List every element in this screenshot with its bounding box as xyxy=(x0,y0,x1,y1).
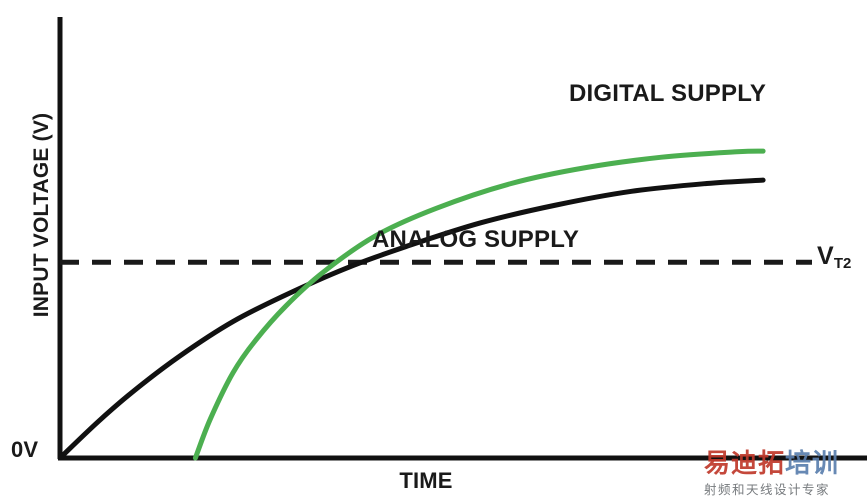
watermark-main-text: 易迪拓培训 xyxy=(704,450,862,476)
digital-supply-curve xyxy=(195,151,763,458)
analog-supply-series-label: ANALOG SUPPLY xyxy=(372,226,579,254)
zero-volt-origin-label: 0V xyxy=(11,437,38,463)
watermark-logo: 易迪拓培训 射频和天线设计专家 xyxy=(704,450,862,498)
watermark-blue-text: 培训 xyxy=(785,448,839,478)
threshold-subscript: T2 xyxy=(834,255,852,272)
threshold-voltage-label: VT2 xyxy=(817,242,851,272)
threshold-symbol: V xyxy=(817,242,834,270)
watermark-subtitle: 射频和天线设计专家 xyxy=(704,479,862,498)
digital-supply-series-label: DIGITAL SUPPLY xyxy=(569,80,766,108)
y-axis-title: INPUT VOLTAGE (V) xyxy=(30,85,54,345)
chart-canvas: INPUT VOLTAGE (V) TIME 0V DIGITAL SUPPLY… xyxy=(0,0,867,501)
watermark-red-text: 易迪拓 xyxy=(704,448,785,478)
x-axis-title: TIME xyxy=(399,468,452,494)
analog-supply-curve xyxy=(60,180,763,458)
